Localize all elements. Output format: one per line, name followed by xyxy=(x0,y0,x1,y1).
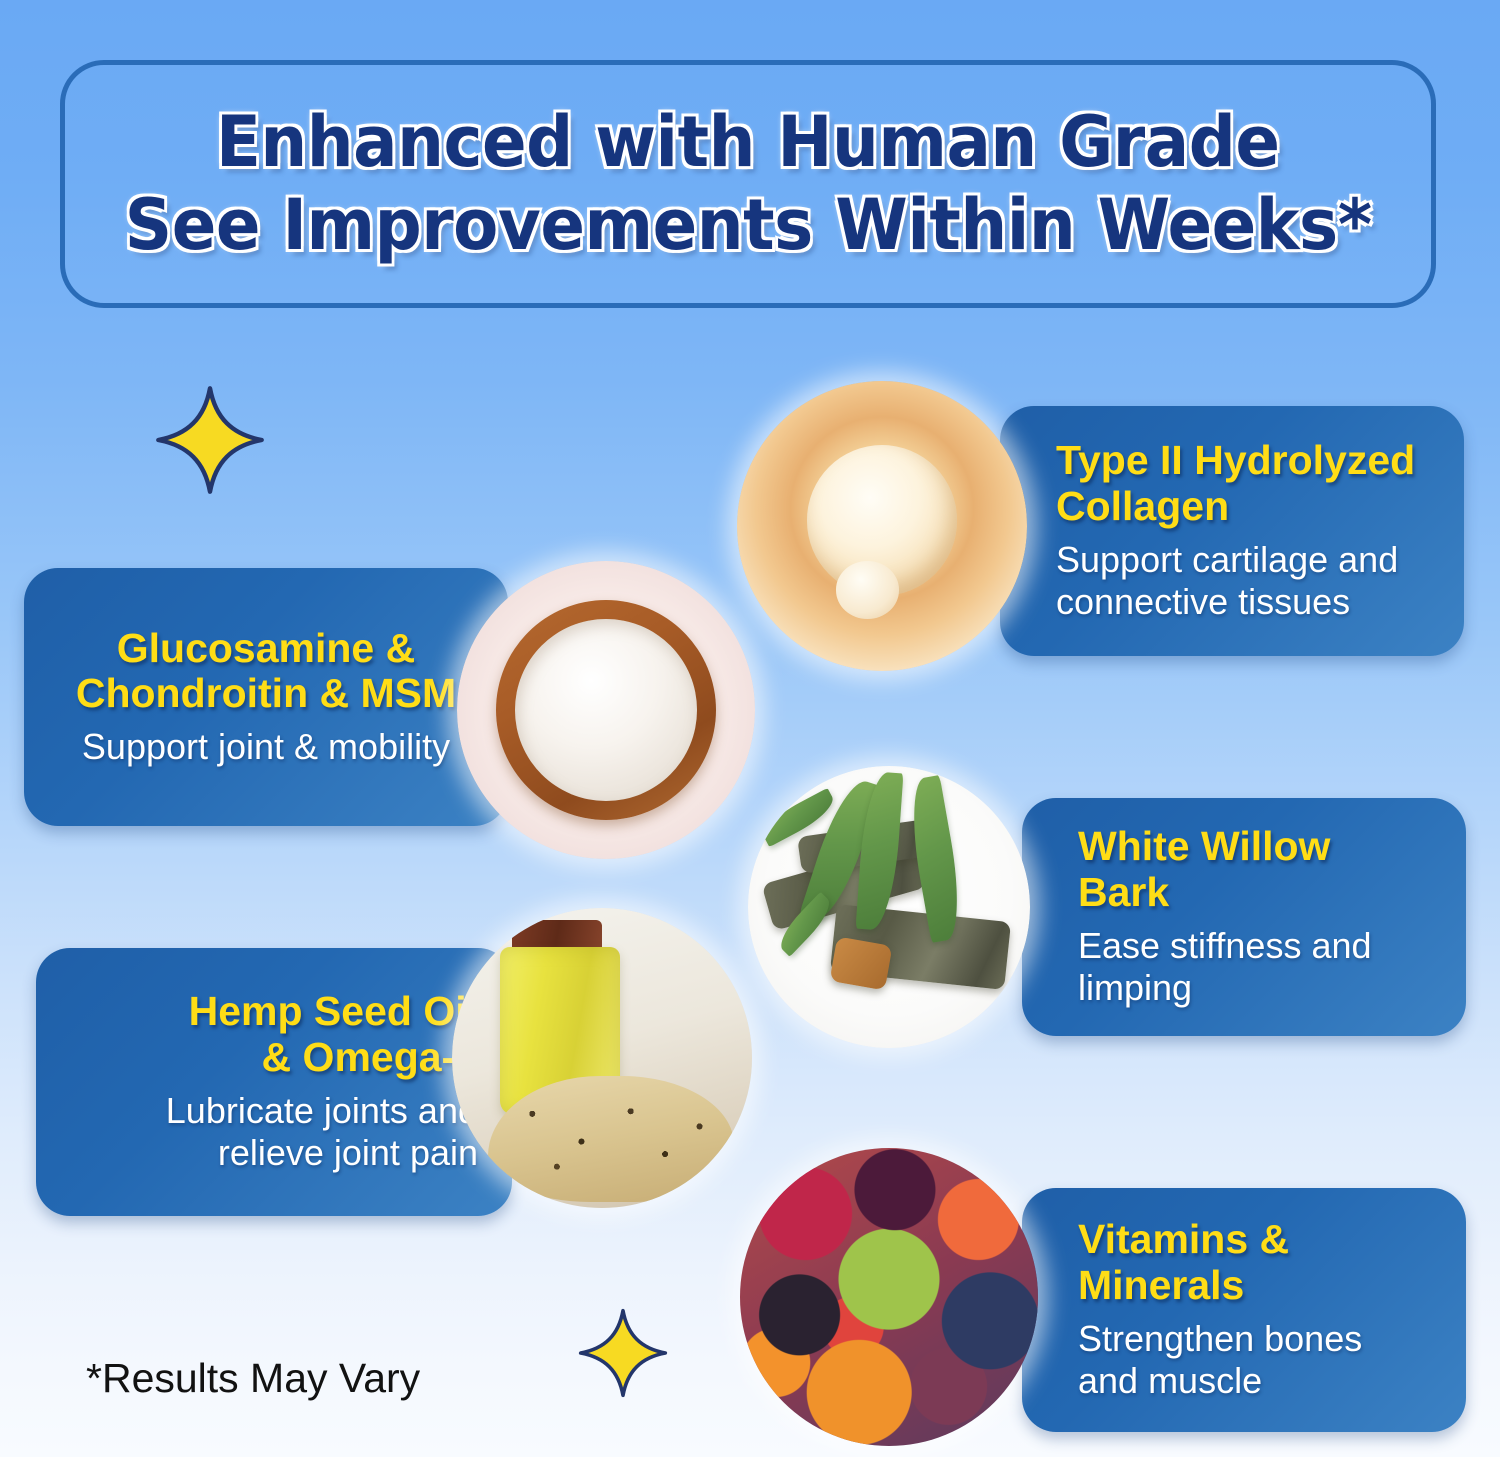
collagen-capsule-photo xyxy=(737,381,1027,671)
header-line-2: See Improvements Within Weeks* xyxy=(125,184,1372,267)
hemp-oil-image xyxy=(452,908,752,1208)
ingredient-card-collagen: Type II Hydrolyzed Collagen Support cart… xyxy=(1000,406,1464,656)
ingredient-card-glucosamine: Glucosamine & Chondroitin & MSM Support … xyxy=(24,568,508,826)
white-willow-bark-photo xyxy=(748,766,1030,1048)
header-banner: Enhanced with Human Grade See Improvemen… xyxy=(60,60,1436,308)
card-description-vitamins-minerals: Strengthen bones and muscle xyxy=(1078,1318,1388,1403)
card-title-hemp-seed-oil: Hemp Seed Oil & Omega-3 xyxy=(148,989,478,1079)
poster-canvas: Enhanced with Human Grade See Improvemen… xyxy=(0,0,1500,1457)
card-title-white-willow-bark: White Willow Bark xyxy=(1078,824,1378,914)
results-disclaimer: *Results May Vary xyxy=(86,1355,420,1402)
ingredient-card-hemp-seed-oil: Hemp Seed Oil & Omega-3 Lubricate joints… xyxy=(36,948,512,1216)
ingredient-card-white-willow-bark: White Willow Bark Ease stiffness and lim… xyxy=(1022,798,1466,1036)
hemp-seed-oil-photo xyxy=(452,908,752,1208)
card-title-glucosamine: Glucosamine & Chondroitin & MSM xyxy=(58,626,474,716)
card-description-glucosamine: Support joint & mobility xyxy=(82,726,450,768)
card-description-collagen: Support cartilage and connective tissues xyxy=(1056,539,1430,624)
card-description-white-willow-bark: Ease stiffness and limping xyxy=(1078,925,1408,1010)
collagen-capsule-image xyxy=(737,381,1027,671)
fruits-image xyxy=(740,1148,1038,1446)
sparkle-bottom-center-icon xyxy=(578,1308,668,1398)
card-description-hemp-seed-oil: Lubricate joints and relieve joint pain xyxy=(138,1090,478,1175)
sparkle-top-left-icon xyxy=(155,385,265,495)
card-title-vitamins-minerals: Vitamins & Minerals xyxy=(1078,1217,1368,1307)
header-line-1: Enhanced with Human Grade xyxy=(216,101,1280,184)
willow-bark-image xyxy=(748,766,1030,1048)
card-title-collagen: Type II Hydrolyzed Collagen xyxy=(1056,438,1430,528)
powder-bowl-image xyxy=(457,561,755,859)
fruits-vitamins-photo xyxy=(740,1148,1038,1446)
glucosamine-powder-bowl-photo xyxy=(457,561,755,859)
ingredient-card-vitamins-minerals: Vitamins & Minerals Strengthen bones and… xyxy=(1022,1188,1466,1432)
